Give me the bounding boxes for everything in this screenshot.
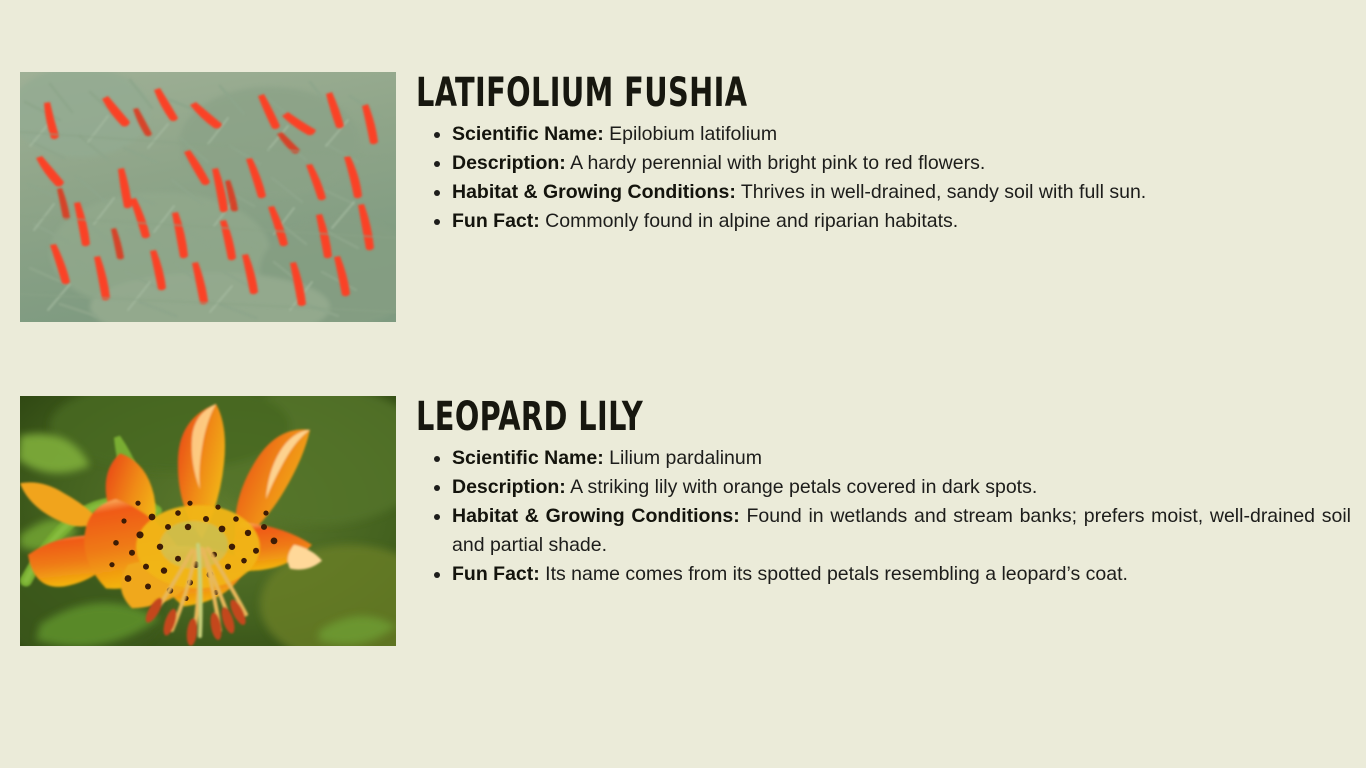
fact-label: Fun Fact: bbox=[452, 563, 540, 585]
fact-label: Fun Fact: bbox=[452, 210, 540, 232]
fact-label: Habitat & Growing Conditions: bbox=[452, 181, 736, 203]
fact-label: Scientific Name: bbox=[452, 447, 604, 469]
fact-value: Epilobium latifolium bbox=[609, 123, 777, 145]
fact-list: Scientific Name: Epilobium latifolium De… bbox=[416, 120, 1351, 236]
text-column-leopard-lily: Leopard Lily Scientific Name: Lilium par… bbox=[416, 396, 1351, 589]
text-column-latifolium-fushia: Latifolium Fushia Scientific Name: Epilo… bbox=[416, 72, 1351, 236]
fact-label: Description: bbox=[452, 152, 566, 174]
list-item: Fun Fact: Its name comes from its spotte… bbox=[416, 560, 1351, 589]
entry-title: Latifolium Fushia bbox=[416, 72, 1164, 114]
fact-value: Commonly found in alpine and riparian ha… bbox=[545, 210, 958, 232]
list-item: Fun Fact: Commonly found in alpine and r… bbox=[416, 207, 1351, 236]
list-item: Description: A striking lily with orange… bbox=[416, 473, 1351, 502]
list-item: Description: A hardy perennial with brig… bbox=[416, 149, 1351, 178]
latifolium-fushia-illustration bbox=[20, 72, 396, 322]
leopard-lily-illustration bbox=[20, 396, 396, 646]
fact-value: Thrives in well-drained, sandy soil with… bbox=[741, 181, 1146, 203]
list-item: Scientific Name: Epilobium latifolium bbox=[416, 120, 1351, 149]
fact-label: Habitat & Growing Conditions: bbox=[452, 505, 740, 527]
fact-value: A hardy perennial with bright pink to re… bbox=[570, 152, 985, 174]
fact-value: Lilium pardalinum bbox=[609, 447, 762, 469]
list-item: Habitat & Growing Conditions: Thrives in… bbox=[416, 178, 1351, 207]
fact-list: Scientific Name: Lilium pardalinum Descr… bbox=[416, 444, 1351, 589]
fact-value: Its name comes from its spotted petals r… bbox=[545, 563, 1128, 585]
photo-leopard-lily bbox=[20, 396, 396, 646]
slide: Latifolium Fushia Scientific Name: Epilo… bbox=[0, 0, 1366, 768]
photo-latifolium-fushia bbox=[20, 72, 396, 322]
fact-label: Scientific Name: bbox=[452, 123, 604, 145]
fact-value: A striking lily with orange petals cover… bbox=[570, 476, 1037, 498]
list-item: Habitat & Growing Conditions: Found in w… bbox=[416, 502, 1351, 560]
list-item: Scientific Name: Lilium pardalinum bbox=[416, 444, 1351, 473]
fact-label: Description: bbox=[452, 476, 566, 498]
entry-title: Leopard Lily bbox=[416, 396, 1164, 438]
